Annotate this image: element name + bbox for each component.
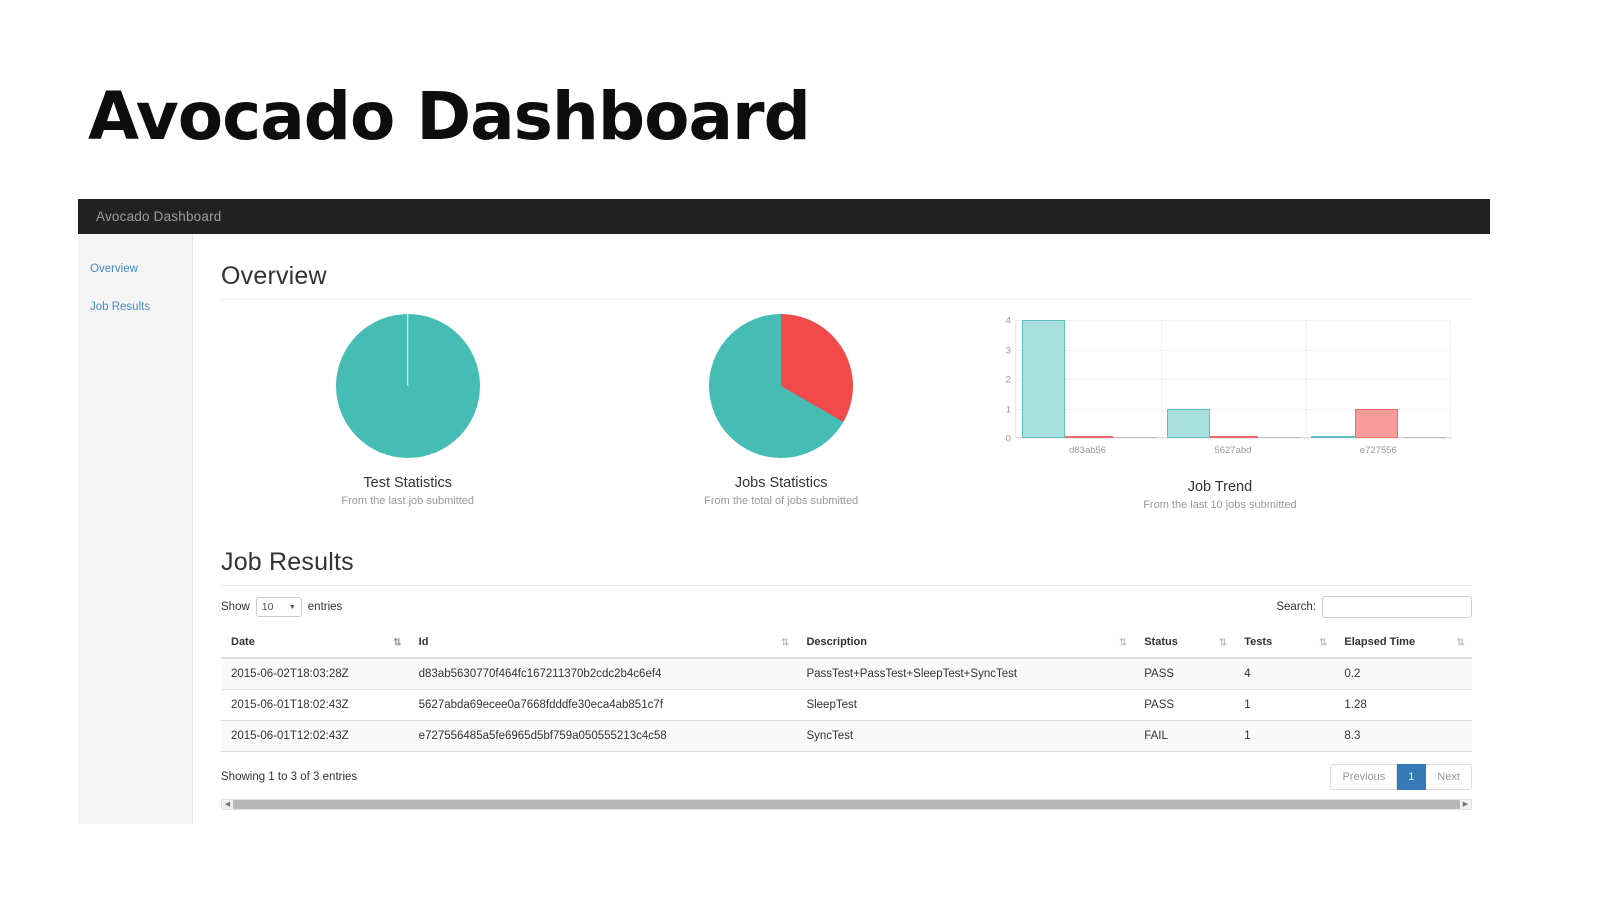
column-header-id[interactable]: Id ⇅ [409,628,797,658]
cell-status: PASS [1134,658,1234,690]
app-navbar: Avocado Dashboard [78,199,1490,234]
jobs-statistics-caption: Jobs Statistics [594,474,967,492]
search-label: Search: [1276,601,1316,613]
jobs-statistics-pie[interactable] [709,314,853,458]
column-label-tests: Tests [1244,636,1272,648]
cell-id: 5627abda69ecee0a7668fdddfe30eca4ab851c7f [409,690,797,721]
sidebar-item-overview[interactable]: Overview [78,254,192,284]
cell-date: 2015-06-02T18:03:28Z [221,658,409,690]
sort-icon-id: ⇅ [781,637,788,648]
jobs-statistics-subtitle: From the total of jobs submitted [594,494,967,508]
xtick-1: 5627abd [1160,445,1305,456]
bar-group-1 [1161,320,1306,438]
column-header-elapsed-time[interactable]: Elapsed Time ⇅ [1334,628,1472,658]
datatable-footer: Showing 1 to 3 of 3 entries Previous 1 N… [221,751,1472,790]
xtick-2: e727556 [1306,445,1451,456]
cell-tests: 4 [1234,658,1334,690]
sort-icon-status: ⇅ [1219,637,1226,648]
pagination-previous[interactable]: Previous [1330,764,1397,790]
test-statistics-subtitle: From the last job submitted [221,494,594,508]
datatable-length-control: Show 10 ▼ entries [221,597,342,617]
test-statistics-pie[interactable] [336,314,480,458]
column-header-description[interactable]: Description ⇅ [796,628,1134,658]
bar-other-1 [1258,437,1301,438]
pagination: Previous 1 Next [1330,764,1472,790]
cell-status: PASS [1134,690,1234,721]
sort-icon-date: ⇅ [393,637,400,648]
bar-pass-2[interactable] [1311,436,1354,438]
chart-test-statistics: Test Statistics From the last job submit… [221,310,594,508]
sort-icon-elapsed-time: ⇅ [1457,637,1464,648]
table-head: Date ⇅ Id ⇅ Description ⇅ [221,628,1472,658]
sidebar-item-job-results[interactable]: Job Results [78,292,192,322]
table-header-row: Date ⇅ Id ⇅ Description ⇅ [221,628,1472,658]
bar-fail-0[interactable] [1065,436,1113,438]
cell-elapsed: 1.28 [1334,690,1472,721]
column-label-status: Status [1144,636,1178,648]
chart-jobs-statistics: Jobs Statistics From the total of jobs s… [594,310,967,508]
cell-tests: 1 [1234,690,1334,721]
cell-description: PassTest+PassTest+SleepTest+SyncTest [796,658,1134,690]
search-input[interactable] [1322,596,1472,618]
main-content: Overview Test Statistics From the last j… [193,234,1490,824]
sort-icon-tests: ⇅ [1319,637,1326,648]
job-trend-barchart[interactable]: 4 3 2 1 [989,314,1451,462]
cell-elapsed: 0.2 [1334,658,1472,690]
entries-label: entries [308,601,343,613]
table-body: 2015-06-02T18:03:28Z d83ab5630770f464fc1… [221,658,1472,751]
table-row[interactable]: 2015-06-02T18:03:28Z d83ab5630770f464fc1… [221,658,1472,690]
navbar-brand[interactable]: Avocado Dashboard [96,209,222,224]
cell-date: 2015-06-01T18:02:43Z [221,690,409,721]
cell-description: SyncTest [796,721,1134,752]
horizontal-scrollbar[interactable]: ◀ ▶ [221,799,1472,810]
show-label: Show [221,601,250,613]
job-trend-plot: 4 3 2 1 [1015,320,1451,438]
slide-canvas: Avocado Dashboard Avocado Dashboard Over… [0,0,1600,900]
datatable-controls: Show 10 ▼ entries Search: [221,596,1472,618]
table-row[interactable]: 2015-06-01T12:02:43Z e727556485a5fe6965d… [221,721,1472,752]
ytick-0: 0 [1006,434,1011,445]
bar-pass-0[interactable] [1022,320,1065,438]
cell-id: e727556485a5fe6965d5bf759a050555213c4c58 [409,721,797,752]
bar-group-2 [1306,320,1451,438]
scrollbar-thumb[interactable] [233,800,1460,809]
entries-select[interactable]: 10 ▼ [256,597,302,617]
charts-row: Test Statistics From the last job submit… [221,310,1472,512]
overview-divider [221,299,1472,300]
job-results-divider [221,585,1472,586]
bar-other-0 [1113,437,1156,438]
job-trend-subtitle: From the last 10 jobs submitted [968,498,1472,512]
gridline-0: 0 [1016,438,1451,439]
scroll-left-arrow-icon[interactable]: ◀ [222,801,233,808]
pie-seam [407,314,409,386]
column-header-status[interactable]: Status ⇅ [1134,628,1234,658]
bar-pass-1[interactable] [1167,409,1210,439]
pagination-page-1[interactable]: 1 [1397,764,1426,790]
column-label-description: Description [806,636,867,648]
bar-fail-1[interactable] [1210,436,1258,438]
xtick-0: d83ab56 [1015,445,1160,456]
cell-description: SleepTest [796,690,1134,721]
datatable-info: Showing 1 to 3 of 3 entries [221,771,357,783]
ytick-1: 1 [1006,404,1011,415]
pagination-next[interactable]: Next [1426,764,1472,790]
datatable-filter-control: Search: [1276,596,1472,618]
bar-fail-2[interactable] [1355,409,1398,439]
column-label-elapsed-time: Elapsed Time [1344,636,1415,648]
job-results-section: Job Results Show 10 ▼ entries Sear [221,548,1472,824]
cell-tests: 1 [1234,721,1334,752]
column-label-date: Date [231,636,255,648]
slide-title: Avocado Dashboard [88,78,810,155]
cell-id: d83ab5630770f464fc167211370b2cdc2b4c6ef4 [409,658,797,690]
bar-other-2 [1403,437,1446,438]
cell-elapsed: 8.3 [1334,721,1472,752]
sidebar: Overview Job Results [78,234,193,824]
scroll-right-arrow-icon[interactable]: ▶ [1460,801,1471,808]
job-results-heading: Job Results [221,548,1472,577]
cell-date: 2015-06-01T12:02:43Z [221,721,409,752]
overview-heading: Overview [221,262,1472,291]
job-trend-caption: Job Trend [968,478,1472,496]
chart-job-trend: 4 3 2 1 [968,310,1472,512]
bar-group-0 [1016,320,1161,438]
ytick-4: 4 [1006,316,1011,327]
column-label-id: Id [419,636,429,648]
avocado-dashboard-app: Avocado Dashboard Overview Job Results O… [78,199,1490,824]
cell-status: FAIL [1134,721,1234,752]
job-results-table: Date ⇅ Id ⇅ Description ⇅ [221,628,1472,751]
table-row[interactable]: 2015-06-01T18:02:43Z 5627abda69ecee0a766… [221,690,1472,721]
entries-select-value: 10 [262,601,274,613]
ytick-3: 3 [1006,345,1011,356]
ytick-2: 2 [1006,375,1011,386]
chevron-down-icon: ▼ [289,604,296,611]
column-header-tests[interactable]: Tests ⇅ [1234,628,1334,658]
test-statistics-caption: Test Statistics [221,474,594,492]
column-header-date[interactable]: Date ⇅ [221,628,409,658]
sort-icon-description: ⇅ [1119,637,1126,648]
app-body: Overview Job Results Overview Test Stati… [78,234,1490,824]
